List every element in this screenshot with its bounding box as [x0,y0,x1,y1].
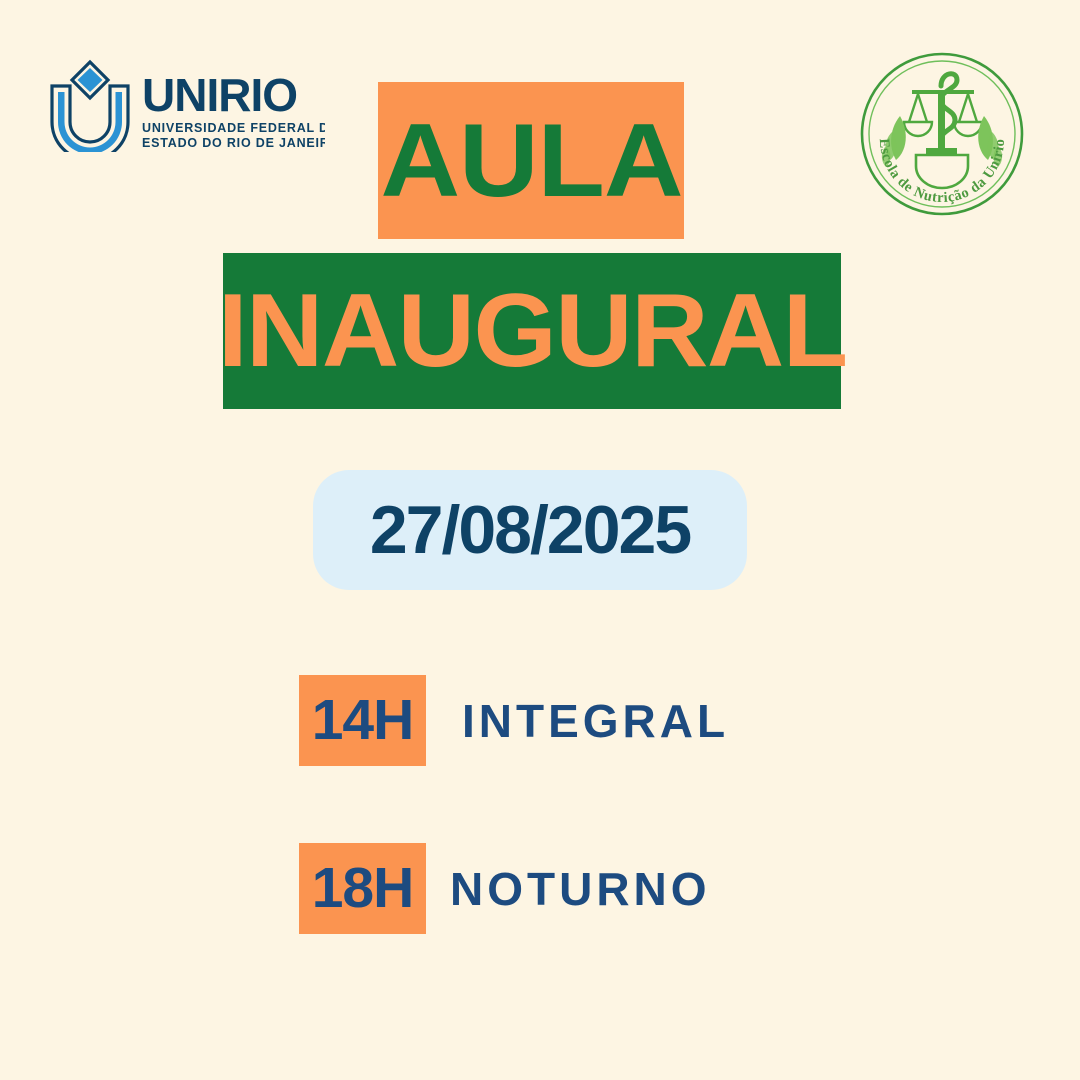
unirio-wordmark-text: UNIRIO [142,72,292,118]
schedule-row: 14H INTEGRAL [299,675,729,766]
schedule-time-text: 14H [312,692,414,749]
headline-aula-text: AULA [380,109,682,213]
schedule-shift-label: NOTURNO [450,866,711,912]
schedule-time-text: 18H [312,860,414,917]
unirio-wordmark: UNIRIO UNIVERSIDADE FEDERAL DO ESTADO DO… [142,72,292,151]
unirio-logo-mark-icon [46,56,134,152]
unirio-subtitle-line-1: UNIVERSIDADE FEDERAL DO [142,121,325,136]
escola-de-nutricao-seal-icon: Escola de Nutrição da Unirio [856,48,1028,220]
headline-inaugural-block: INAUGURAL [223,253,841,409]
headline-aula-block: AULA [378,82,684,239]
event-date-pill: 27/08/2025 [313,470,747,590]
schedule-time-chip: 18H [299,843,426,934]
unirio-subtitle-line-2: ESTADO DO RIO DE JANEIRO [142,136,325,151]
schedule-time-chip: 14H [299,675,426,766]
poster-canvas: UNIRIO UNIVERSIDADE FEDERAL DO ESTADO DO… [0,0,1080,1080]
unirio-logo: UNIRIO UNIVERSIDADE FEDERAL DO ESTADO DO… [46,56,291,156]
headline-inaugural-text: INAUGURAL [218,279,847,383]
schedule-row: 18H NOTURNO [299,843,711,934]
event-date-text: 27/08/2025 [370,496,690,564]
unirio-subtitle: UNIVERSIDADE FEDERAL DO ESTADO DO RIO DE… [142,121,325,151]
schedule-shift-label: INTEGRAL [462,698,729,744]
